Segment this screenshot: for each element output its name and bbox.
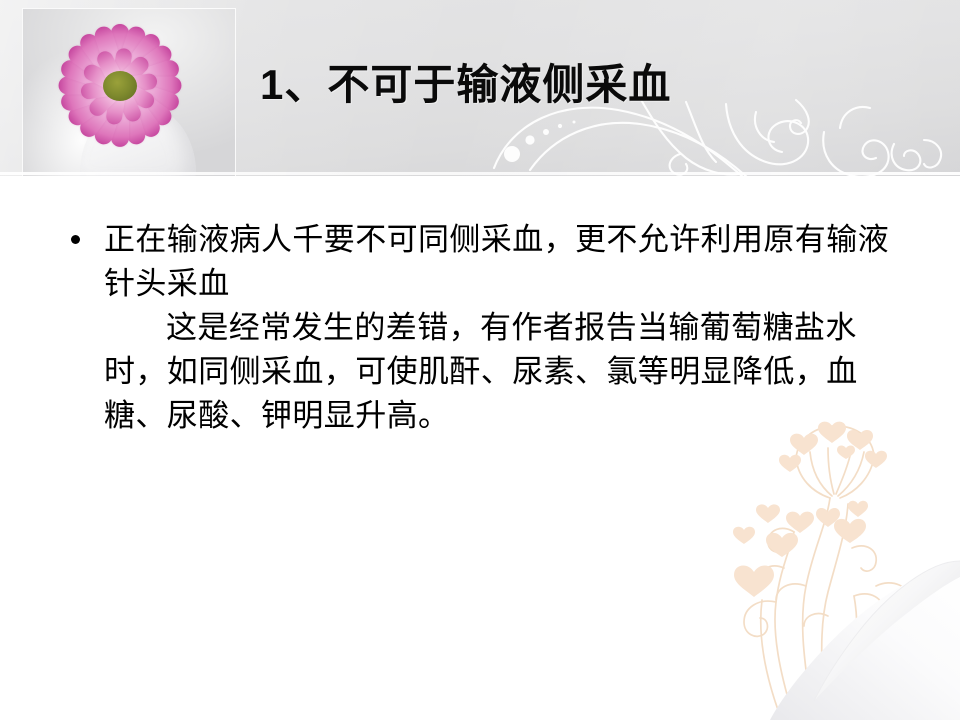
paragraph-2: 这是经常发生的差错，有作者报告当输葡萄糖盐水时，如同侧采血，可使肌酐、尿素、氯等… (104, 306, 918, 438)
flower-center (103, 71, 137, 101)
flower-photo (22, 8, 236, 176)
page-title: 1、不可于输液侧采血 (260, 62, 900, 108)
content-block: 正在输液病人千要不可同侧采血，更不允许利用原有输液针头采血 这是经常发生的差错，… (62, 218, 918, 438)
bullet-list-item: 正在输液病人千要不可同侧采血，更不允许利用原有输液针头采血 这是经常发生的差错，… (62, 218, 918, 438)
bullet-dot-icon (71, 235, 80, 244)
slide-body: 正在输液病人千要不可同侧采血，更不允许利用原有输液针头采血 这是经常发生的差错，… (0, 176, 960, 720)
header-baseline (0, 172, 960, 175)
slide-header-banner: 1、不可于输液侧采血 (0, 0, 960, 176)
page-curl-icon (770, 555, 960, 720)
paragraph-1: 正在输液病人千要不可同侧采血，更不允许利用原有输液针头采血 (104, 218, 918, 306)
slide-canvas: 1、不可于输液侧采血 正在输液病人千要不可同侧采血，更不允许利用原有输液针头采血… (0, 0, 960, 720)
floral-hearts-ornament-icon (680, 420, 960, 720)
